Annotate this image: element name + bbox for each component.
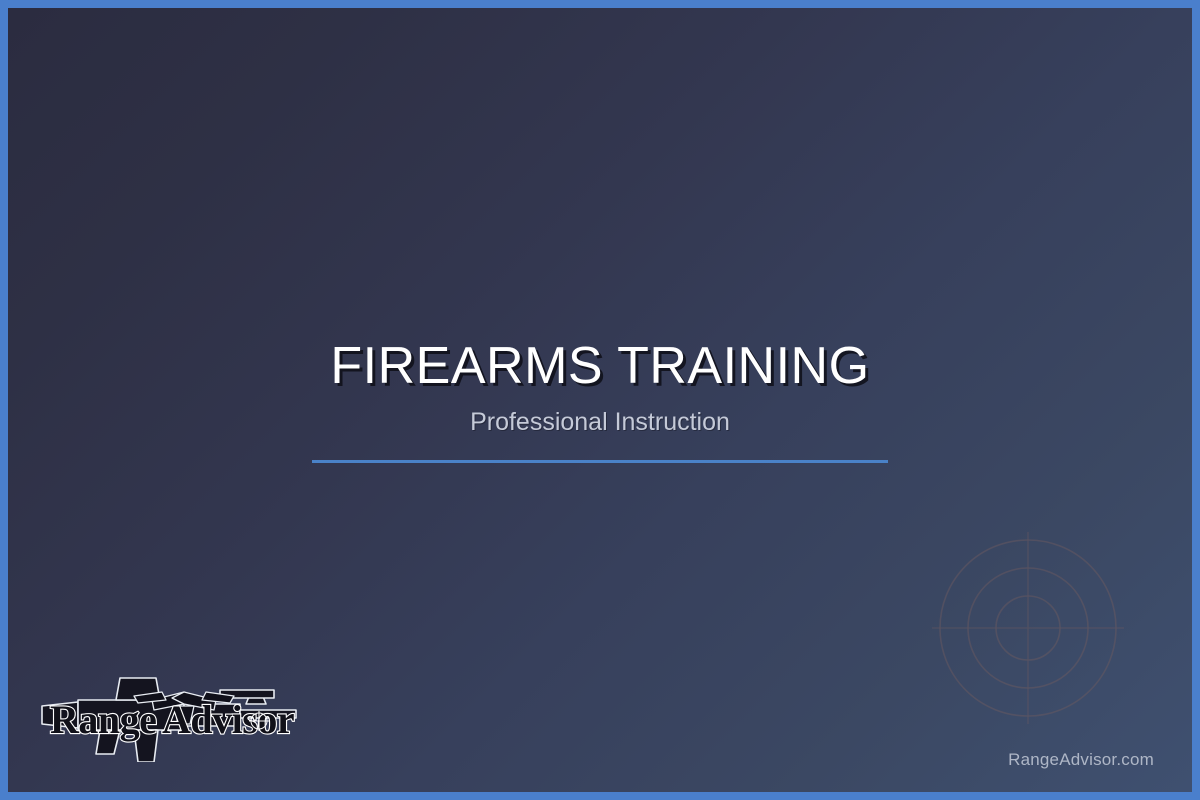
svg-text:Advisor: Advisor <box>162 697 294 742</box>
title-block: FIREARMS TRAINING Professional Instructi… <box>8 340 1192 435</box>
svg-text:Range: Range <box>50 697 156 742</box>
page-title: FIREARMS TRAINING <box>8 340 1192 392</box>
page-subtitle: Professional Instruction <box>8 392 1192 435</box>
presentation-slide: FIREARMS TRAINING Professional Instructi… <box>0 0 1200 800</box>
accent-divider <box>312 460 888 463</box>
slide-background: FIREARMS TRAINING Professional Instructi… <box>8 8 1192 792</box>
crosshair-target-icon <box>930 530 1126 726</box>
site-label: RangeAdvisor.com <box>1008 750 1154 770</box>
rifle-brand-logo-icon: Range Advisor <box>34 670 314 762</box>
